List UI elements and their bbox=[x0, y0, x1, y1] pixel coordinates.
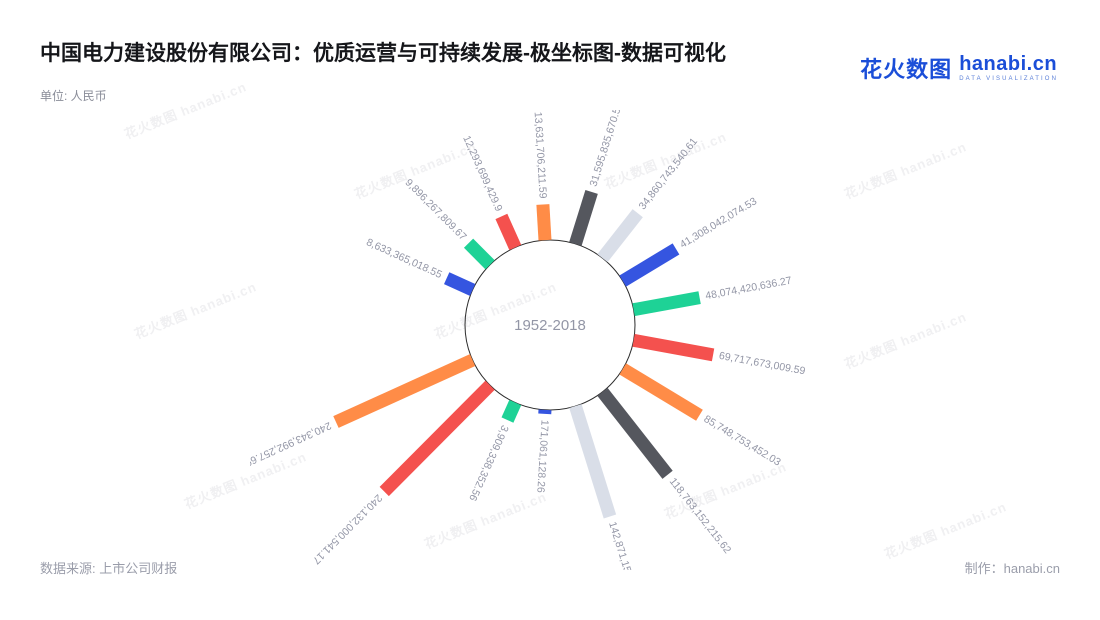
data-source: 数据来源: 上市公司财报 bbox=[40, 558, 177, 577]
polar-bar[interactable] bbox=[444, 272, 475, 296]
polar-bar[interactable] bbox=[538, 409, 551, 414]
bar-value-label: 12,293,699,429.9 bbox=[460, 134, 504, 214]
bar-value-label: 142,871,159,083.27 bbox=[606, 520, 645, 570]
bar-value-label: 9,896,267,809.67 bbox=[403, 177, 469, 244]
polar-bar[interactable] bbox=[597, 388, 672, 479]
center-label: 1952-2018 bbox=[514, 317, 586, 334]
bar-value-label: 8,633,365,018.55 bbox=[364, 236, 444, 281]
logo-cn-text: 花火数图 bbox=[860, 52, 952, 84]
polar-bar[interactable] bbox=[632, 291, 700, 316]
logo-latin-sub: DATA VISUALIZATION bbox=[959, 76, 1058, 82]
polar-bar[interactable] bbox=[495, 214, 521, 250]
polar-bar[interactable] bbox=[569, 190, 598, 246]
bar-value-label: 31,595,835,670.55 bbox=[587, 110, 625, 188]
logo-latin: hanabi.cn DATA VISUALIZATION bbox=[959, 54, 1058, 82]
polar-bar[interactable] bbox=[619, 363, 702, 420]
logo-latin-main: hanabi.cn bbox=[959, 54, 1058, 74]
polar-bar[interactable] bbox=[536, 204, 551, 240]
polar-bar[interactable] bbox=[569, 404, 616, 518]
polar-bar[interactable] bbox=[632, 334, 714, 361]
polar-bar[interactable] bbox=[619, 243, 679, 286]
bar-value-label: 34,860,743,540.61 bbox=[637, 136, 701, 212]
bar-value-label: 171,061,128.26 bbox=[534, 419, 550, 493]
bar-value-label: 41,308,042,074.53 bbox=[678, 195, 759, 251]
chart-svg: 1952-20188,633,365,018.559,896,267,809.6… bbox=[250, 110, 850, 570]
bar-value-label: 118,763,152,215.62 bbox=[667, 476, 734, 556]
bar-value-label: 3,909,338,352.56 bbox=[466, 423, 510, 503]
bar-value-label: 240,343,992,257.69 bbox=[250, 419, 333, 469]
bar-value-label: 69,717,673,009.59 bbox=[718, 350, 806, 378]
brand-logo: 花火数图 hanabi.cn DATA VISUALIZATION bbox=[860, 52, 1058, 84]
polar-bar[interactable] bbox=[464, 239, 495, 270]
bar-value-label: 240,132,000,541.17 bbox=[310, 492, 385, 567]
polar-bar[interactable] bbox=[597, 209, 643, 262]
bar-value-label: 85,748,753,452.03 bbox=[702, 413, 783, 469]
chart-subtitle: 单位: 人民币 bbox=[40, 88, 110, 105]
bar-value-label: 13,631,706,211.59 bbox=[532, 111, 549, 199]
page-title: 中国电力建设股份有限公司：优质运营与可持续发展-极坐标图-数据可视化 bbox=[40, 38, 830, 69]
polar-bar-chart: 1952-20188,633,365,018.559,896,267,809.6… bbox=[250, 110, 850, 570]
bar-value-label: 48,074,420,636.27 bbox=[704, 275, 792, 303]
credit-text: 制作：hanabi.cn bbox=[965, 558, 1060, 577]
